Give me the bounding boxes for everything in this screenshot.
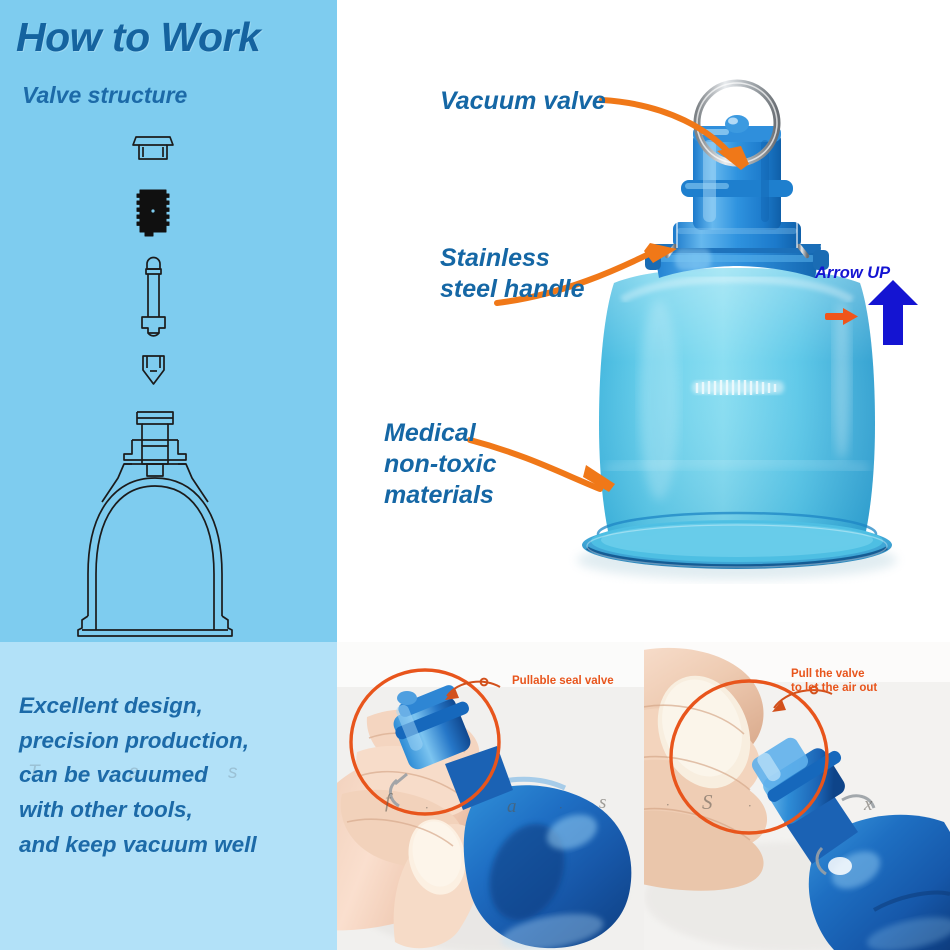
callout-medical-non-toxic-materials: Medical non-toxic materials [384, 418, 497, 510]
photo-note-line: Pull the valve [791, 667, 877, 681]
callout-line: non-toxic [384, 449, 497, 480]
part-valve-stem [142, 258, 165, 336]
arrow-up-label: Arrow UP [815, 264, 890, 283]
valve-stem-graphic [673, 115, 801, 248]
sidebar-top-panel: How to Work Valve structure [0, 0, 337, 642]
infographic-page: How to Work Valve structure [0, 0, 950, 950]
main-product-panel: Vacuum valve Stainless steel handle Medi… [337, 0, 950, 642]
hand-graphic [644, 648, 767, 891]
hand-holding-cup-illustration [337, 642, 644, 950]
part-rubber-plug [137, 190, 169, 236]
photo-note-line: to let the air out [791, 681, 877, 695]
callout-line: Vacuum valve [440, 86, 606, 117]
highlight-ribs [692, 380, 784, 395]
callout-vacuum-valve: Vacuum valve [440, 86, 606, 117]
photo-note-pullable-seal-valve: Pullable seal valve [512, 674, 614, 688]
part-valve-seat [143, 356, 164, 384]
copy-line: Excellent design, [19, 689, 329, 724]
part-valve-cap [133, 137, 173, 159]
copy-line: and keep vacuum well [19, 828, 329, 863]
cupping-cup-illustration [337, 0, 950, 642]
blue-up-arrow-icon [868, 280, 918, 345]
sidebar-bottom-panel: T · a · s Excellent design, precision pr… [0, 642, 337, 950]
copy-line: can be vacuumed [19, 758, 329, 793]
marketing-copy: Excellent design, precision production, … [19, 689, 329, 862]
photo-note-line: Pullable seal valve [512, 674, 614, 688]
copy-line: with other tools, [19, 793, 329, 828]
photo-panel-pull-the-valve: · S · x Pull the valve to let the air ou… [644, 642, 950, 950]
callout-line: Stainless [440, 243, 585, 274]
part-cup-body [78, 412, 232, 636]
copy-line: precision production, [19, 724, 329, 759]
photo-panel-pullable-seal-valve: f · a · s Pullable seal valve [337, 642, 644, 950]
callout-stainless-steel-handle: Stainless steel handle [440, 243, 585, 305]
callout-line: steel handle [440, 274, 585, 305]
page-subtitle: Valve structure [22, 82, 187, 109]
callout-line: materials [384, 480, 497, 511]
page-title: How to Work [16, 14, 260, 61]
photo-note-pull-the-valve: Pull the valve to let the air out [791, 667, 877, 695]
valve-exploded-diagram [0, 112, 337, 637]
callout-line: Medical [384, 418, 497, 449]
